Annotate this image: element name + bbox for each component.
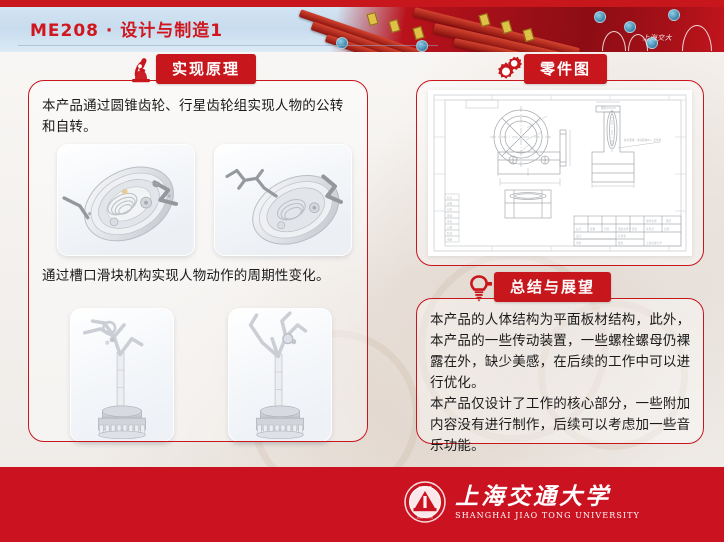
lightbulb-icon	[466, 272, 492, 302]
svg-text:JIAO TONG: JIAO TONG	[416, 516, 434, 520]
header-divider	[18, 45, 438, 46]
university-logo: 交通大学 JIAO TONG 上海交通大学 SHANGHAI JIAO TONG…	[404, 481, 640, 523]
page-title: ME208 · 设计与制造1	[30, 16, 223, 41]
section-header-principle: 实现原理	[128, 54, 256, 84]
top-accent-bar	[0, 0, 724, 7]
summary-paragraph-1: 本产品的人体结构为平面板材结构，此外，本产品的一些传动装置，一些螺栓螺母仍裸露在…	[430, 310, 692, 394]
microscope-icon	[128, 54, 154, 84]
summary-paragraph-2: 本产品仅设计了工作的核心部分，一些附加内容没有进行制作，后续可以考虑加一些音乐功…	[430, 394, 692, 457]
university-name-cn: 上海交通大学	[455, 485, 640, 508]
section-label-principle: 实现原理	[156, 54, 256, 84]
principle-paragraph-2: 通过槽口滑块机构实现人物动作的周期性变化。	[42, 266, 356, 287]
gears-icon	[496, 54, 522, 84]
slide-footer: 交通大学 JIAO TONG 上海交通大学 SHANGHAI JIAO TONG…	[0, 467, 724, 542]
section-header-parts: 零件图	[496, 54, 607, 84]
principle-paragraph-1: 本产品通过圆锥齿轮、行星齿轮组实现人物的公转和自转。	[42, 96, 356, 138]
university-name-en: SHANGHAI JIAO TONG UNIVERSITY	[455, 512, 640, 520]
temple-watermark-text: 上海交大	[642, 33, 672, 43]
section-header-summary: 总结与展望	[466, 272, 611, 302]
section-label-parts: 零件图	[524, 54, 607, 84]
presentation-slide: 上海交大 ME208 · 设计与制造1 实现原理 本产品通过圆锥齿轮、行星齿轮组…	[0, 0, 724, 542]
sjtu-seal-icon: 交通大学 JIAO TONG	[404, 481, 446, 523]
slide-header: 上海交大 ME208 · 设计与制造1	[0, 7, 724, 52]
section-label-summary: 总结与展望	[494, 272, 611, 302]
svg-text:交通大学: 交通大学	[418, 485, 432, 490]
